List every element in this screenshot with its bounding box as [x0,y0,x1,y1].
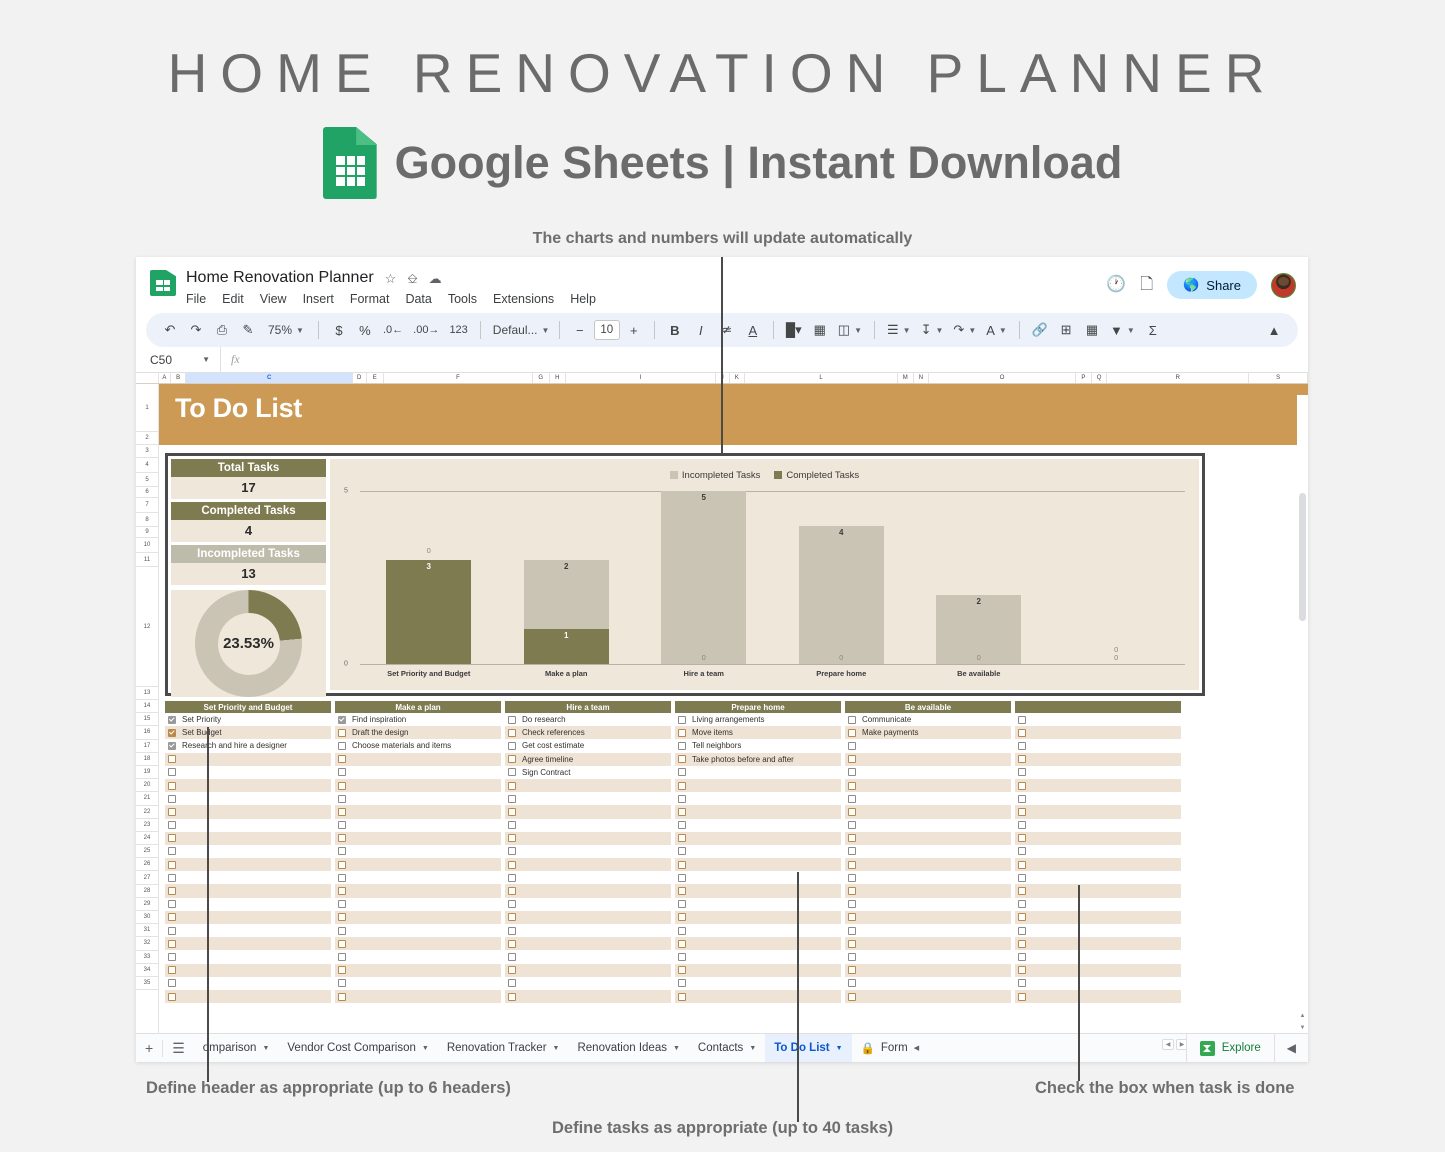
task-label[interactable]: Set Budget [182,728,222,737]
increase-decimal-icon[interactable]: .00→ [409,317,443,343]
task-checkbox[interactable] [508,755,516,763]
row-header-1[interactable]: 1 [136,384,158,432]
task-checkbox[interactable] [678,847,686,855]
row-headers: 1 2 3 4 5 6 7 8 9 10 11 12 13 14 15 16 1… [136,384,159,1033]
task-checkbox[interactable] [1018,861,1026,869]
task-checkbox[interactable] [1018,966,1026,974]
task-checkbox[interactable] [338,768,346,776]
task-checkbox[interactable] [848,729,856,737]
task-row [505,977,671,990]
row-header-25[interactable]: 25 [136,845,158,858]
task-checkbox[interactable] [1018,782,1026,790]
task-checkbox[interactable] [338,913,346,921]
task-checkbox[interactable] [508,768,516,776]
insert-chart-icon[interactable]: ▦ [1080,317,1104,343]
task-checkbox[interactable] [168,729,176,737]
task-checkbox[interactable] [678,808,686,816]
column-header-O[interactable]: O [929,373,1076,383]
task-label[interactable]: Do research [522,715,566,724]
column-header-N[interactable]: N [914,373,930,383]
row-header-3[interactable]: 3 [136,445,158,458]
task-checkbox[interactable] [678,795,686,803]
row-header-28[interactable]: 28 [136,885,158,898]
collapse-toolbar-icon[interactable]: ▲ [1262,317,1286,343]
task-checkbox[interactable] [338,821,346,829]
sheet-tab-to-do-list[interactable]: To Do List▼ [765,1034,851,1062]
task-checkbox[interactable] [508,979,516,987]
task-checkbox[interactable] [508,913,516,921]
add-sheet-icon[interactable]: + [136,1040,162,1056]
task-label[interactable]: Draft the design [352,728,408,737]
text-rotation-icon[interactable]: A▼ [982,317,1011,343]
bold-icon[interactable]: B [663,317,687,343]
task-checkbox[interactable] [848,795,856,803]
menu-format[interactable]: Format [350,292,390,306]
row-header-2[interactable]: 2 [136,432,158,445]
task-checkbox[interactable] [168,966,176,974]
task-checkbox[interactable] [678,887,686,895]
task-checkbox[interactable] [1018,953,1026,961]
task-row [505,924,671,937]
task-label[interactable]: Get cost estimate [522,741,584,750]
row-header-20[interactable]: 20 [136,779,158,792]
task-checkbox[interactable] [338,953,346,961]
menu-file[interactable]: File [186,292,206,306]
print-icon[interactable]: ⎙ [210,317,234,343]
checklist-header[interactable]: Make a plan [335,701,501,713]
task-checkbox[interactable] [338,940,346,948]
task-checkbox[interactable] [168,847,176,855]
row-header-29[interactable]: 29 [136,898,158,911]
text-wrap-icon[interactable]: ↷▼ [949,317,980,343]
task-checkbox[interactable] [338,716,346,724]
menu-data[interactable]: Data [405,292,431,306]
currency-icon[interactable]: $ [327,317,351,343]
column-header-K[interactable]: K [730,373,746,383]
kpi-completed-tasks-label: Completed Tasks [171,502,326,520]
functions-icon[interactable]: Σ [1141,317,1165,343]
task-checkbox[interactable] [338,847,346,855]
number-format-icon[interactable]: 123 [445,317,471,343]
task-label[interactable]: Choose materials and items [352,741,451,750]
task-checkbox[interactable] [1018,847,1026,855]
font-family-select[interactable]: Defaul...▼ [489,317,551,343]
task-checkbox[interactable] [1018,716,1026,724]
column-header-E[interactable]: E [367,373,385,383]
task-checkbox[interactable] [338,993,346,1001]
task-checkbox[interactable] [338,979,346,987]
task-checkbox[interactable] [1018,808,1026,816]
task-checkbox[interactable] [678,900,686,908]
formula-input[interactable] [250,347,1308,372]
vertical-scrollbar[interactable]: ▲ ▼ [1297,395,1308,1033]
move-to-folder-icon[interactable]: ⎒ [407,272,417,285]
task-label[interactable]: Take photos before and after [692,755,794,764]
task-checkbox[interactable] [168,716,176,724]
redo-icon[interactable]: ↷ [184,317,208,343]
task-checkbox[interactable] [678,729,686,737]
row-header-23[interactable]: 23 [136,819,158,832]
row-header-16[interactable]: 16 [136,726,158,739]
column-header-F[interactable]: F [384,373,533,383]
undo-icon[interactable]: ↶ [158,317,182,343]
row-header-33[interactable]: 33 [136,951,158,964]
row-header-10[interactable]: 10 [136,538,158,553]
fill-color-icon[interactable]: █▾ [782,317,806,343]
version-history-icon[interactable]: 🕐 [1106,277,1126,293]
task-row [1015,739,1181,752]
task-checkbox[interactable] [678,927,686,935]
task-checkbox[interactable] [508,808,516,816]
chevron-down-icon: ▼ [836,1045,843,1052]
task-checkbox[interactable] [168,742,176,750]
task-row [165,779,331,792]
column-header-G[interactable]: G [533,373,550,383]
task-row [1015,898,1181,911]
task-checkbox[interactable] [508,927,516,935]
task-checkbox[interactable] [168,913,176,921]
percent-icon[interactable]: % [353,317,377,343]
row-header-17[interactable]: 17 [136,740,158,753]
vertical-scrollbar-thumb[interactable] [1299,493,1306,621]
task-checkbox[interactable] [678,874,686,882]
menu-tools[interactable]: Tools [448,292,477,306]
task-checkbox[interactable] [1018,913,1026,921]
task-label[interactable]: Agree timeline [522,755,573,764]
task-checkbox[interactable] [508,953,516,961]
row-header-19[interactable]: 19 [136,766,158,779]
task-checkbox[interactable] [678,953,686,961]
explore-button[interactable]: Explore [1187,1041,1274,1056]
row-header-15[interactable]: 15 [136,713,158,726]
scroll-down-icon[interactable]: ▼ [1297,1022,1308,1033]
task-row [845,805,1011,818]
task-checkbox[interactable] [508,834,516,842]
task-checkbox[interactable] [848,782,856,790]
row-header-27[interactable]: 27 [136,871,158,884]
task-checkbox[interactable] [168,782,176,790]
task-label[interactable]: Make payments [862,728,918,737]
column-header-C[interactable]: C [186,373,352,383]
filter-icon[interactable]: ▼▼ [1106,317,1139,343]
row-header-26[interactable]: 26 [136,858,158,871]
task-row: Tell neighbors [675,739,841,752]
task-checkbox[interactable] [338,927,346,935]
task-checkbox[interactable] [848,808,856,816]
task-checkbox[interactable] [338,887,346,895]
task-checkbox[interactable] [508,729,516,737]
zoom-select[interactable]: 75%▼ [262,317,310,343]
chart-bars: 30Set Priority and Budget21Make a plan50… [360,491,1185,664]
insert-link-icon[interactable]: 🔗 [1028,317,1052,343]
menu-view[interactable]: View [260,292,287,306]
task-checkbox[interactable] [508,900,516,908]
collapse-panel-icon[interactable]: ◀ [1274,1034,1308,1062]
row-header-21[interactable]: 21 [136,792,158,805]
task-checkbox[interactable] [848,768,856,776]
task-checkbox[interactable] [338,966,346,974]
row-header-18[interactable]: 18 [136,753,158,766]
row-header-9[interactable]: 9 [136,527,158,538]
row-header-8[interactable]: 8 [136,513,158,527]
merge-cells-icon[interactable]: ◫▼ [834,317,866,343]
column-header-R[interactable]: R [1107,373,1249,383]
task-checkbox[interactable] [848,861,856,869]
task-checkbox[interactable] [848,993,856,1001]
task-checkbox[interactable] [508,716,516,724]
share-button[interactable]: 🌎 Share [1167,271,1257,299]
task-checkbox[interactable] [848,716,856,724]
task-checkbox[interactable] [508,795,516,803]
column-header-D[interactable]: D [353,373,367,383]
task-label[interactable]: Communicate [862,715,911,724]
chevron-down-icon: ▼ [749,1045,756,1052]
task-checkbox[interactable] [1018,834,1026,842]
task-checkbox[interactable] [338,900,346,908]
task-checkbox[interactable] [168,768,176,776]
task-checkbox[interactable] [338,874,346,882]
name-box[interactable]: C50 ▼ [136,353,220,367]
row-header-34[interactable]: 34 [136,964,158,977]
column-header-P[interactable]: P [1076,373,1092,383]
task-checkbox[interactable] [678,768,686,776]
task-checkbox[interactable] [168,755,176,763]
task-checkbox[interactable] [848,742,856,750]
sheet-tab-renovation-ideas[interactable]: Renovation Ideas▼ [568,1034,688,1062]
task-checkbox[interactable] [848,834,856,842]
task-checkbox[interactable] [1018,795,1026,803]
task-checkbox[interactable] [338,729,346,737]
task-label[interactable]: Living arrangements [692,715,764,724]
column-header-I[interactable]: I [566,373,716,383]
task-checkbox[interactable] [678,755,686,763]
task-checkbox[interactable] [1018,979,1026,987]
task-checkbox[interactable] [678,979,686,987]
kpi-total-tasks: Total Tasks 17 [171,459,326,499]
chart-x-label: Prepare home [816,669,866,678]
paint-format-icon[interactable]: ✎ [236,317,260,343]
task-checkbox[interactable] [508,966,516,974]
row-header-22[interactable]: 22 [136,806,158,819]
sheet-tab-vendor-cost-comparison[interactable]: Vendor Cost Comparison▼ [278,1034,437,1062]
row-header-13[interactable]: 13 [136,687,158,700]
task-checkbox[interactable] [338,742,346,750]
vertical-align-icon[interactable]: ↧▼ [917,317,948,343]
sheet-tab-contacts[interactable]: Contacts▼ [689,1034,765,1062]
insert-comment-icon[interactable]: ⊞ [1054,317,1078,343]
task-label[interactable]: Sign Contract [522,768,570,777]
comment-icon[interactable]: 🗋 [1140,277,1153,293]
cloud-saved-icon[interactable]: ☁ [429,272,442,285]
checklist-header[interactable]: Hire a team [505,701,671,713]
select-all-corner[interactable] [136,373,159,383]
task-checkbox[interactable] [168,993,176,1001]
column-header-M[interactable]: M [898,373,914,383]
row-header-24[interactable]: 24 [136,832,158,845]
task-checkbox[interactable] [168,927,176,935]
task-row [505,832,671,845]
task-label[interactable]: Move items [692,728,733,737]
task-checkbox[interactable] [168,940,176,948]
borders-icon[interactable]: ▦ [808,317,832,343]
font-size-input[interactable]: 10 [594,320,620,340]
row-header-11[interactable]: 11 [136,553,158,567]
annotation-header-text: Define header as appropriate (up to 6 he… [146,1079,511,1098]
lock-icon: 🔒 [861,1041,875,1055]
task-checkbox[interactable] [1018,768,1026,776]
menu-help[interactable]: Help [570,292,596,306]
column-header-L[interactable]: L [745,373,898,383]
annotation-line-top [721,257,723,455]
task-checkbox[interactable] [848,927,856,935]
strikethrough-icon[interactable]: ≄ [715,317,739,343]
scroll-up-icon[interactable]: ▲ [1297,1010,1308,1021]
row-header-14[interactable]: 14 [136,700,158,713]
menu-extensions[interactable]: Extensions [493,292,554,306]
document-title[interactable]: Home Renovation Planner [186,267,374,289]
column-header-S[interactable]: S [1249,373,1308,383]
task-checkbox[interactable] [848,900,856,908]
task-checkbox[interactable] [678,861,686,869]
decrease-decimal-icon[interactable]: .0← [379,317,407,343]
task-checkbox[interactable] [1018,729,1026,737]
task-checkbox[interactable] [508,821,516,829]
task-checkbox[interactable] [848,979,856,987]
task-checkbox[interactable] [508,874,516,882]
task-checkbox[interactable] [848,821,856,829]
task-checkbox[interactable] [848,874,856,882]
increase-font-size-button[interactable]: + [622,317,646,343]
horizontal-scroll-arrows[interactable]: ◀▶ [1162,1039,1188,1050]
task-checkbox[interactable] [168,979,176,987]
task-checkbox[interactable] [1018,742,1026,750]
task-checkbox[interactable] [508,993,516,1001]
task-checkbox[interactable] [678,966,686,974]
task-checkbox[interactable] [678,940,686,948]
row-header-32[interactable]: 32 [136,937,158,950]
task-label[interactable]: Check references [522,728,585,737]
task-checkbox[interactable] [168,953,176,961]
task-checkbox[interactable] [848,847,856,855]
task-checkbox[interactable] [1018,755,1026,763]
task-checkbox[interactable] [168,795,176,803]
task-checkbox[interactable] [678,834,686,842]
sheet-tab-renovation-tracker[interactable]: Renovation Tracker▼ [438,1034,569,1062]
task-checkbox[interactable] [338,782,346,790]
task-checkbox[interactable] [678,913,686,921]
task-checkbox[interactable] [168,861,176,869]
task-checkbox[interactable] [678,742,686,750]
task-checkbox[interactable] [1018,900,1026,908]
row-header-6[interactable]: 6 [136,487,158,498]
star-icon[interactable]: ☆ [385,272,397,285]
decrease-font-size-button[interactable]: − [568,317,592,343]
column-header-A[interactable]: A [159,373,171,383]
checklist-header[interactable]: Set Priority and Budget [165,701,331,713]
checklist-header[interactable]: Prepare home [675,701,841,713]
task-checkbox[interactable] [1018,927,1026,935]
column-header-H[interactable]: H [550,373,567,383]
row-header-7[interactable]: 7 [136,498,158,513]
checklist-header[interactable]: Be available [845,701,1011,713]
task-row [165,858,331,871]
task-label[interactable]: Set Priority [182,715,221,724]
task-checkbox[interactable] [338,834,346,842]
text-color-icon[interactable]: A [741,317,765,343]
italic-icon[interactable]: I [689,317,713,343]
task-checkbox[interactable] [168,808,176,816]
task-label[interactable]: Find inspiration [352,715,406,724]
task-checkbox[interactable] [678,716,686,724]
row-header-4[interactable]: 4 [136,458,158,473]
task-row [1015,950,1181,963]
task-checkbox[interactable] [338,795,346,803]
row-header-31[interactable]: 31 [136,924,158,937]
task-checkbox[interactable] [508,861,516,869]
task-checkbox[interactable] [508,940,516,948]
task-checkbox[interactable] [678,821,686,829]
task-checkbox[interactable] [848,913,856,921]
menu-edit[interactable]: Edit [222,292,244,306]
task-checkbox[interactable] [848,940,856,948]
column-header-B[interactable]: B [171,373,187,383]
task-checkbox[interactable] [508,782,516,790]
task-checkbox[interactable] [678,782,686,790]
task-row [1015,726,1181,739]
task-label[interactable]: Research and hire a designer [182,741,287,750]
grid-content[interactable]: To Do List Total Tasks 17 Completed Task… [159,384,1308,1033]
row-header-12[interactable]: 12 [136,567,158,687]
task-checkbox[interactable] [168,874,176,882]
all-sheets-icon[interactable]: ☰ [163,1040,194,1057]
task-checkbox[interactable] [1018,940,1026,948]
row-header-35[interactable]: 35 [136,977,158,990]
task-checkbox[interactable] [848,755,856,763]
task-row [1015,964,1181,977]
task-row [845,779,1011,792]
task-checkbox[interactable] [508,847,516,855]
column-header-Q[interactable]: Q [1092,373,1108,383]
task-checkbox[interactable] [508,742,516,750]
task-checkbox[interactable] [1018,821,1026,829]
avatar[interactable] [1271,273,1296,298]
task-checkbox[interactable] [1018,887,1026,895]
task-checkbox[interactable] [1018,993,1026,1001]
task-checkbox[interactable] [848,953,856,961]
task-checkbox[interactable] [168,900,176,908]
task-checkbox[interactable] [678,993,686,1001]
task-checkbox[interactable] [848,887,856,895]
task-row [335,950,501,963]
task-checkbox[interactable] [1018,874,1026,882]
task-checkbox[interactable] [508,887,516,895]
row-header-5[interactable]: 5 [136,473,158,487]
horizontal-align-icon[interactable]: ☰▼ [883,317,915,343]
task-label[interactable]: Tell neighbors [692,741,741,750]
sheet-tab-form[interactable]: 🔒 Form◀ [852,1034,929,1062]
task-checkbox[interactable] [168,834,176,842]
row-header-30[interactable]: 30 [136,911,158,924]
tasks-bar-chart: Incompleted Tasks Completed Tasks 5 0 30… [330,459,1199,690]
task-checkbox[interactable] [338,861,346,869]
task-checkbox[interactable] [338,755,346,763]
task-checkbox[interactable] [848,966,856,974]
task-checkbox[interactable] [168,821,176,829]
task-checkbox[interactable] [338,808,346,816]
menu-insert[interactable]: Insert [303,292,334,306]
task-checkbox[interactable] [168,887,176,895]
checklist-header[interactable] [1015,701,1181,713]
